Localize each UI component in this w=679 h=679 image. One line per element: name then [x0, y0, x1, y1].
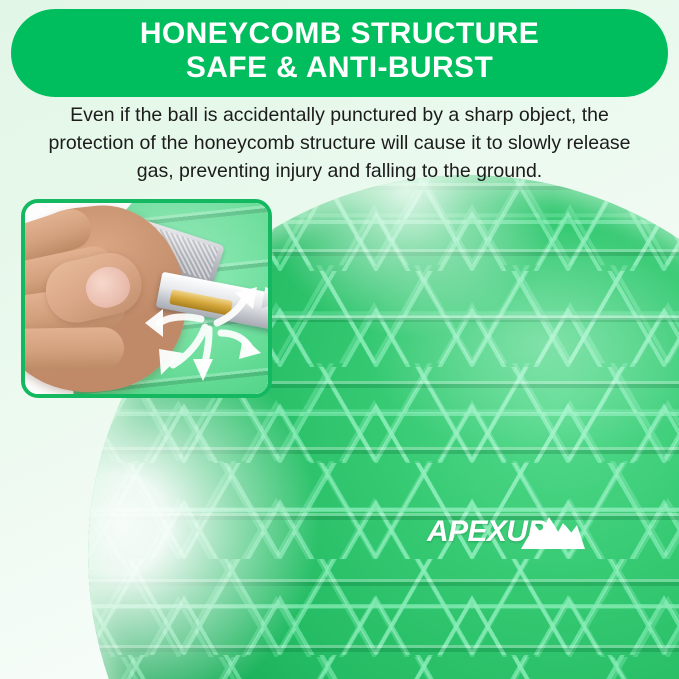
product-feature-image: HONEYCOMB STRUCTURE SAFE & ANTI-BURST Ev…: [0, 0, 679, 679]
mountain-peak-icon: [519, 511, 587, 551]
feature-description: Even if the ball is accidentally punctur…: [34, 101, 645, 185]
header-title-line-1: HONEYCOMB STRUCTURE: [140, 17, 539, 51]
puncture-demo-inset: [21, 199, 272, 398]
finger: [25, 327, 124, 371]
inset-photo: [25, 203, 268, 394]
brand-logo: APEXUP: [427, 509, 585, 554]
header-banner: HONEYCOMB STRUCTURE SAFE & ANTI-BURST: [11, 9, 668, 97]
gas-release-arrows-icon: [143, 279, 268, 391]
header-title-line-2: SAFE & ANTI-BURST: [186, 51, 493, 85]
